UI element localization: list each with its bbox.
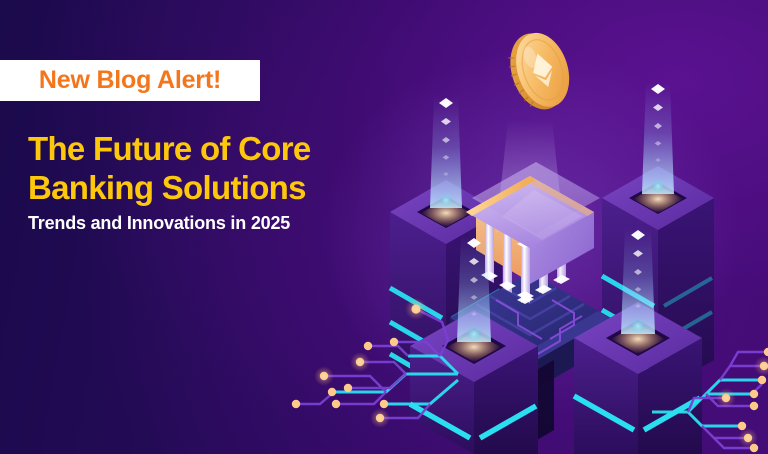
promotional-banner: New Blog Alert! The Future of Core Banki… (0, 0, 768, 454)
isometric-banking-illustration (290, 0, 768, 454)
new-blog-alert-badge: New Blog Alert! (0, 60, 260, 101)
badge-label: New Blog Alert! (39, 66, 221, 95)
subheadline: Trends and Innovations in 2025 (28, 213, 290, 234)
